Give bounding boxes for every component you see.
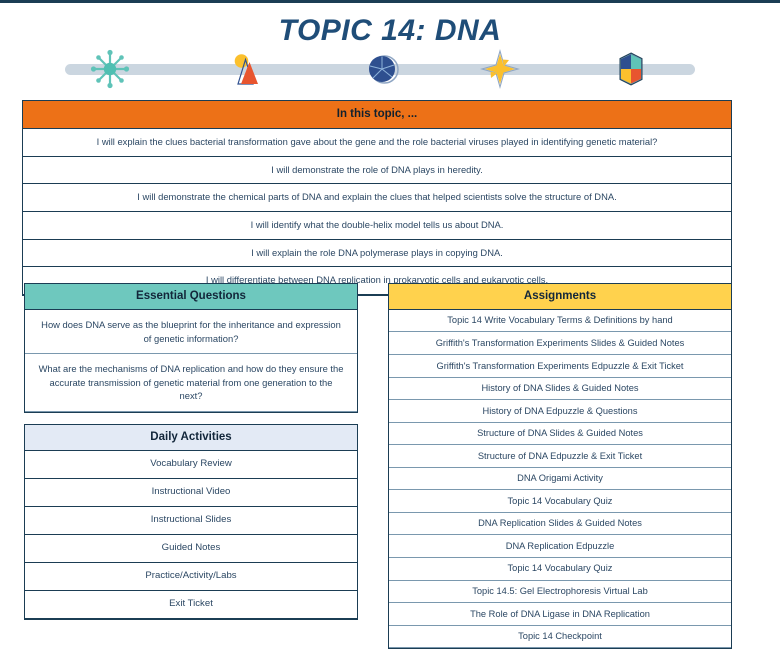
table-row: Instructional Video xyxy=(25,479,357,507)
table-row: Topic 14.5: Gel Electrophoresis Virtual … xyxy=(389,581,731,604)
daily-activities-header: Daily Activities xyxy=(25,425,357,451)
table-row: I will explain the role DNA polymerase p… xyxy=(23,240,731,268)
table-row: History of DNA Edpuzzle & Questions xyxy=(389,400,731,423)
essential-questions-panel: Essential Questions How does DNA serve a… xyxy=(24,283,358,413)
table-row: Griffith's Transformation Experiments Ed… xyxy=(389,355,731,378)
table-row: The Role of DNA Ligase in DNA Replicatio… xyxy=(389,603,731,626)
page-header: TOPIC 14: DNA xyxy=(0,3,780,95)
table-row: Topic 14 Vocabulary Quiz xyxy=(389,558,731,581)
table-row: Structure of DNA Edpuzzle & Exit Ticket xyxy=(389,445,731,468)
in-this-topic-panel: In this topic, ... I will explain the cl… xyxy=(22,100,732,296)
table-row: Griffith's Transformation Experiments Sl… xyxy=(389,332,731,355)
assignments-panel: Assignments Topic 14 Write Vocabulary Te… xyxy=(388,283,732,649)
table-row: History of DNA Slides & Guided Notes xyxy=(389,378,731,401)
table-row: I will explain the clues bacterial trans… xyxy=(23,129,731,157)
virus-molecule-icon xyxy=(88,47,132,91)
in-this-topic-header: In this topic, ... xyxy=(23,101,731,129)
table-row: Instructional Slides xyxy=(25,507,357,535)
table-row: Structure of DNA Slides & Guided Notes xyxy=(389,423,731,446)
table-row: Practice/Activity/Labs xyxy=(25,563,357,591)
table-row: DNA Replication Edpuzzle xyxy=(389,535,731,558)
table-row: What are the mechanisms of DNA replicati… xyxy=(25,354,357,412)
daily-activities-panel: Daily Activities Vocabulary Review Instr… xyxy=(24,424,358,620)
page-title: TOPIC 14: DNA xyxy=(0,14,780,48)
table-row: Topic 14 Vocabulary Quiz xyxy=(389,490,731,513)
mountain-sun-icon xyxy=(223,47,267,91)
table-row: Exit Ticket xyxy=(25,591,357,619)
essential-questions-header: Essential Questions xyxy=(25,284,357,310)
table-row: How does DNA serve as the blueprint for … xyxy=(25,310,357,354)
table-row: Guided Notes xyxy=(25,535,357,563)
table-row: DNA Origami Activity xyxy=(389,468,731,491)
globe-compass-icon xyxy=(361,47,405,91)
table-row: DNA Replication Slides & Guided Notes xyxy=(389,513,731,536)
table-row: Topic 14 Write Vocabulary Terms & Defini… xyxy=(389,310,731,333)
table-row: I will demonstrate the chemical parts of… xyxy=(23,184,731,212)
table-row: Vocabulary Review xyxy=(25,451,357,479)
table-row: I will identify what the double-helix mo… xyxy=(23,212,731,240)
assignments-header: Assignments xyxy=(389,284,731,310)
table-row: Topic 14 Checkpoint xyxy=(389,626,731,649)
star-burst-icon xyxy=(478,47,522,91)
table-row: I will demonstrate the role of DNA plays… xyxy=(23,157,731,185)
topic-timeline xyxy=(65,61,695,77)
cube-quadrant-icon xyxy=(609,47,653,91)
